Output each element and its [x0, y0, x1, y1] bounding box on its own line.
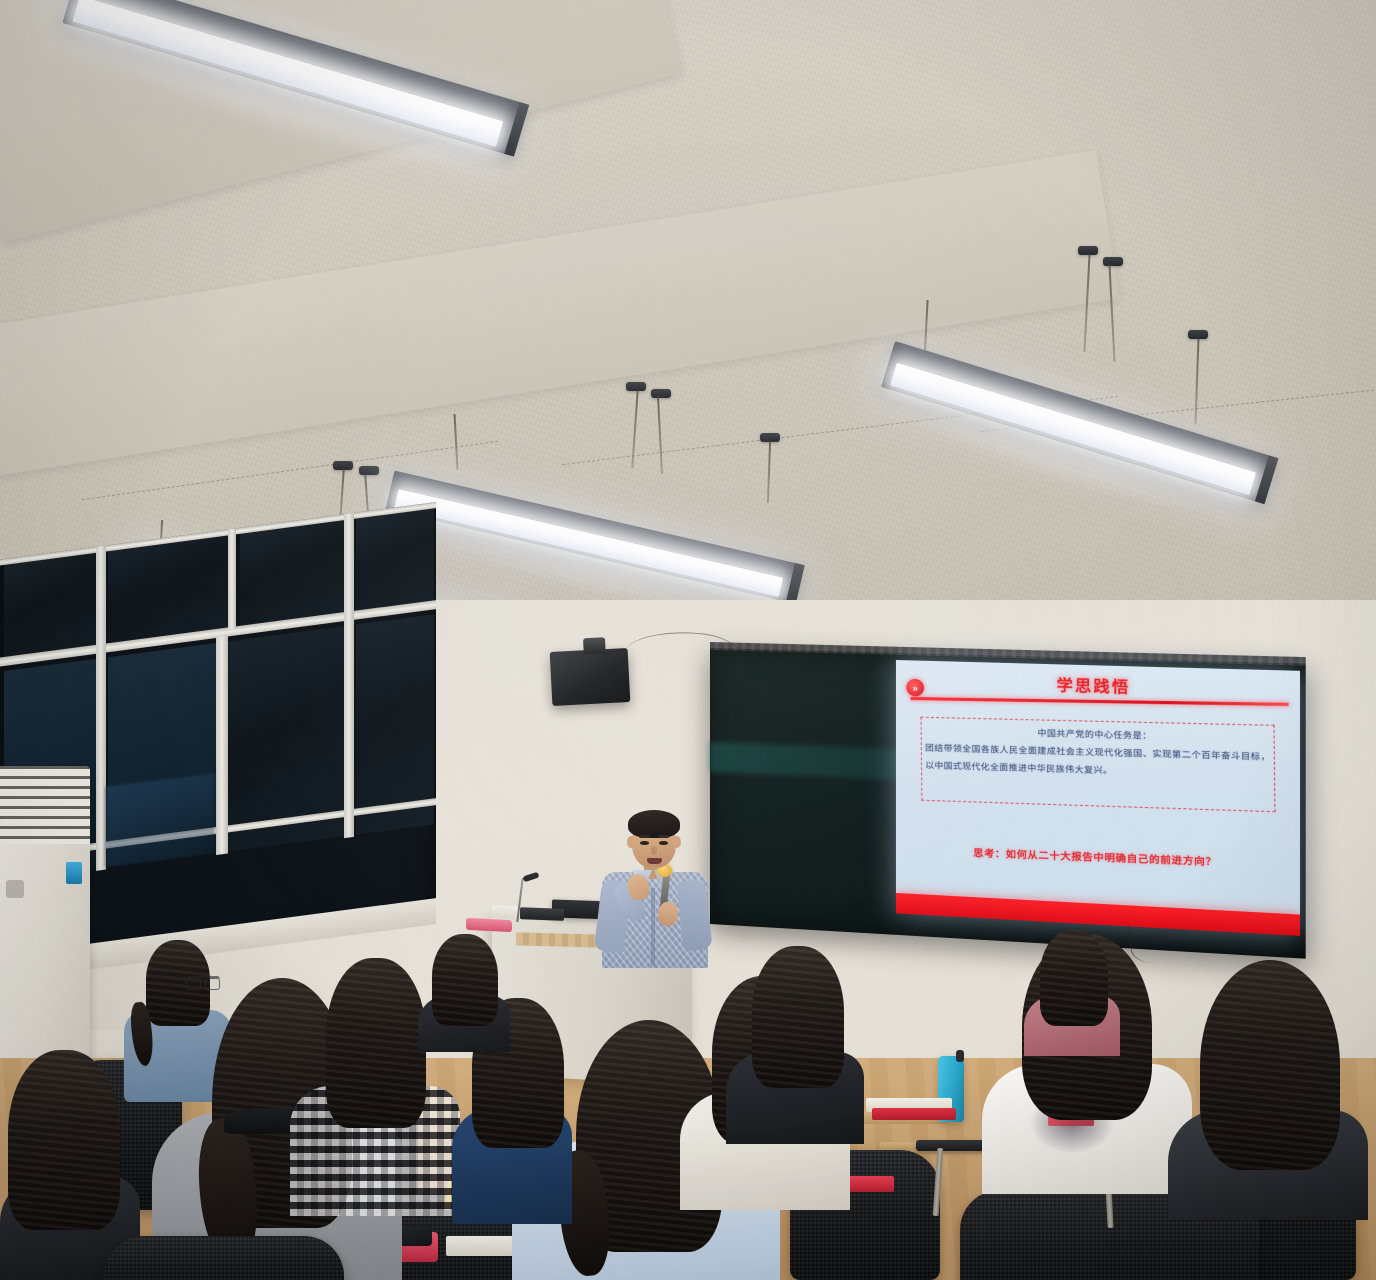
student — [418, 934, 510, 1044]
window-pane — [108, 535, 228, 643]
ceiling-rosette — [359, 466, 379, 475]
camera-lens — [583, 637, 606, 654]
lecturer-hair — [628, 810, 680, 838]
student-hair — [8, 1050, 120, 1230]
ac-label-sticker — [66, 862, 82, 884]
classroom-chair — [104, 1236, 344, 1280]
chair-mesh — [104, 1236, 344, 1280]
shirt-placket — [651, 888, 655, 966]
lecturer-eyebrow — [639, 835, 650, 838]
hair-sheen — [1040, 930, 1108, 1026]
student-hair — [1200, 960, 1340, 1170]
window-pane — [356, 508, 434, 610]
lecturer-eyebrow — [658, 835, 669, 838]
chair-tablet-arm — [916, 1140, 986, 1151]
projected-slide: » 学思践悟 中国共产党的中心任务是： 团结带领全国各族人民全面建成社会主义现代… — [896, 660, 1300, 936]
hair-sheen — [8, 1050, 120, 1230]
window-mullion — [344, 513, 354, 838]
window-mullion — [228, 528, 236, 629]
student — [1168, 960, 1368, 1210]
wall-camera — [550, 648, 631, 706]
student-hair — [752, 946, 844, 1088]
bottle-cap — [956, 1050, 964, 1062]
student-hair — [432, 934, 498, 1026]
slide-question-text: 思考：如何从二十大报告中明确自己的前进方向？ — [896, 842, 1300, 871]
student-hair — [326, 958, 426, 1128]
window-pane — [240, 520, 344, 626]
lecturer — [596, 808, 714, 958]
slide-body-text: 中国共产党的中心任务是： 团结带领全国各族人民全面建成社会主义现代化强国、实现第… — [925, 722, 1271, 784]
lecturer-eye — [640, 841, 649, 845]
student-hair — [1040, 930, 1108, 1026]
lecturer-nose — [651, 846, 657, 855]
hair-sheen — [752, 946, 844, 1088]
notebook — [446, 1236, 518, 1256]
window-mullion — [216, 635, 228, 855]
blackboard-display: » 学思践悟 中国共产党的中心任务是： 团结带领全国各族人民全面建成社会主义现代… — [710, 648, 1306, 959]
ceiling-rosette — [1103, 257, 1123, 266]
hair-sheen — [1200, 960, 1340, 1170]
lecturer-mouth — [647, 858, 662, 864]
lecturer-eye — [659, 841, 668, 845]
lecturer-ear — [627, 836, 635, 848]
classroom-photo: » 学思践悟 中国共产党的中心任务是： 团结带领全国各族人民全面建成社会主义现代… — [0, 0, 1376, 1280]
ceiling-rosette — [651, 389, 671, 398]
air-conditioner — [0, 766, 90, 1066]
lecturer-ear — [673, 836, 681, 848]
ac-vent-louvers — [0, 766, 90, 844]
hair-sheen — [432, 934, 498, 1026]
window-reflection — [105, 773, 215, 867]
slide-body-paragraph: 团结带领全国各族人民全面建成社会主义现代化强国、实现第二个百年奋斗目标，以中国式… — [925, 743, 1271, 775]
hair-sheen — [326, 958, 426, 1128]
lectern-equipment — [520, 907, 564, 921]
red-notebook — [872, 1108, 956, 1120]
window-pane — [4, 553, 96, 657]
ac-brand-logo — [6, 880, 24, 898]
lectern-pink-item — [466, 918, 512, 932]
student — [726, 946, 864, 1136]
student — [1024, 930, 1120, 1050]
